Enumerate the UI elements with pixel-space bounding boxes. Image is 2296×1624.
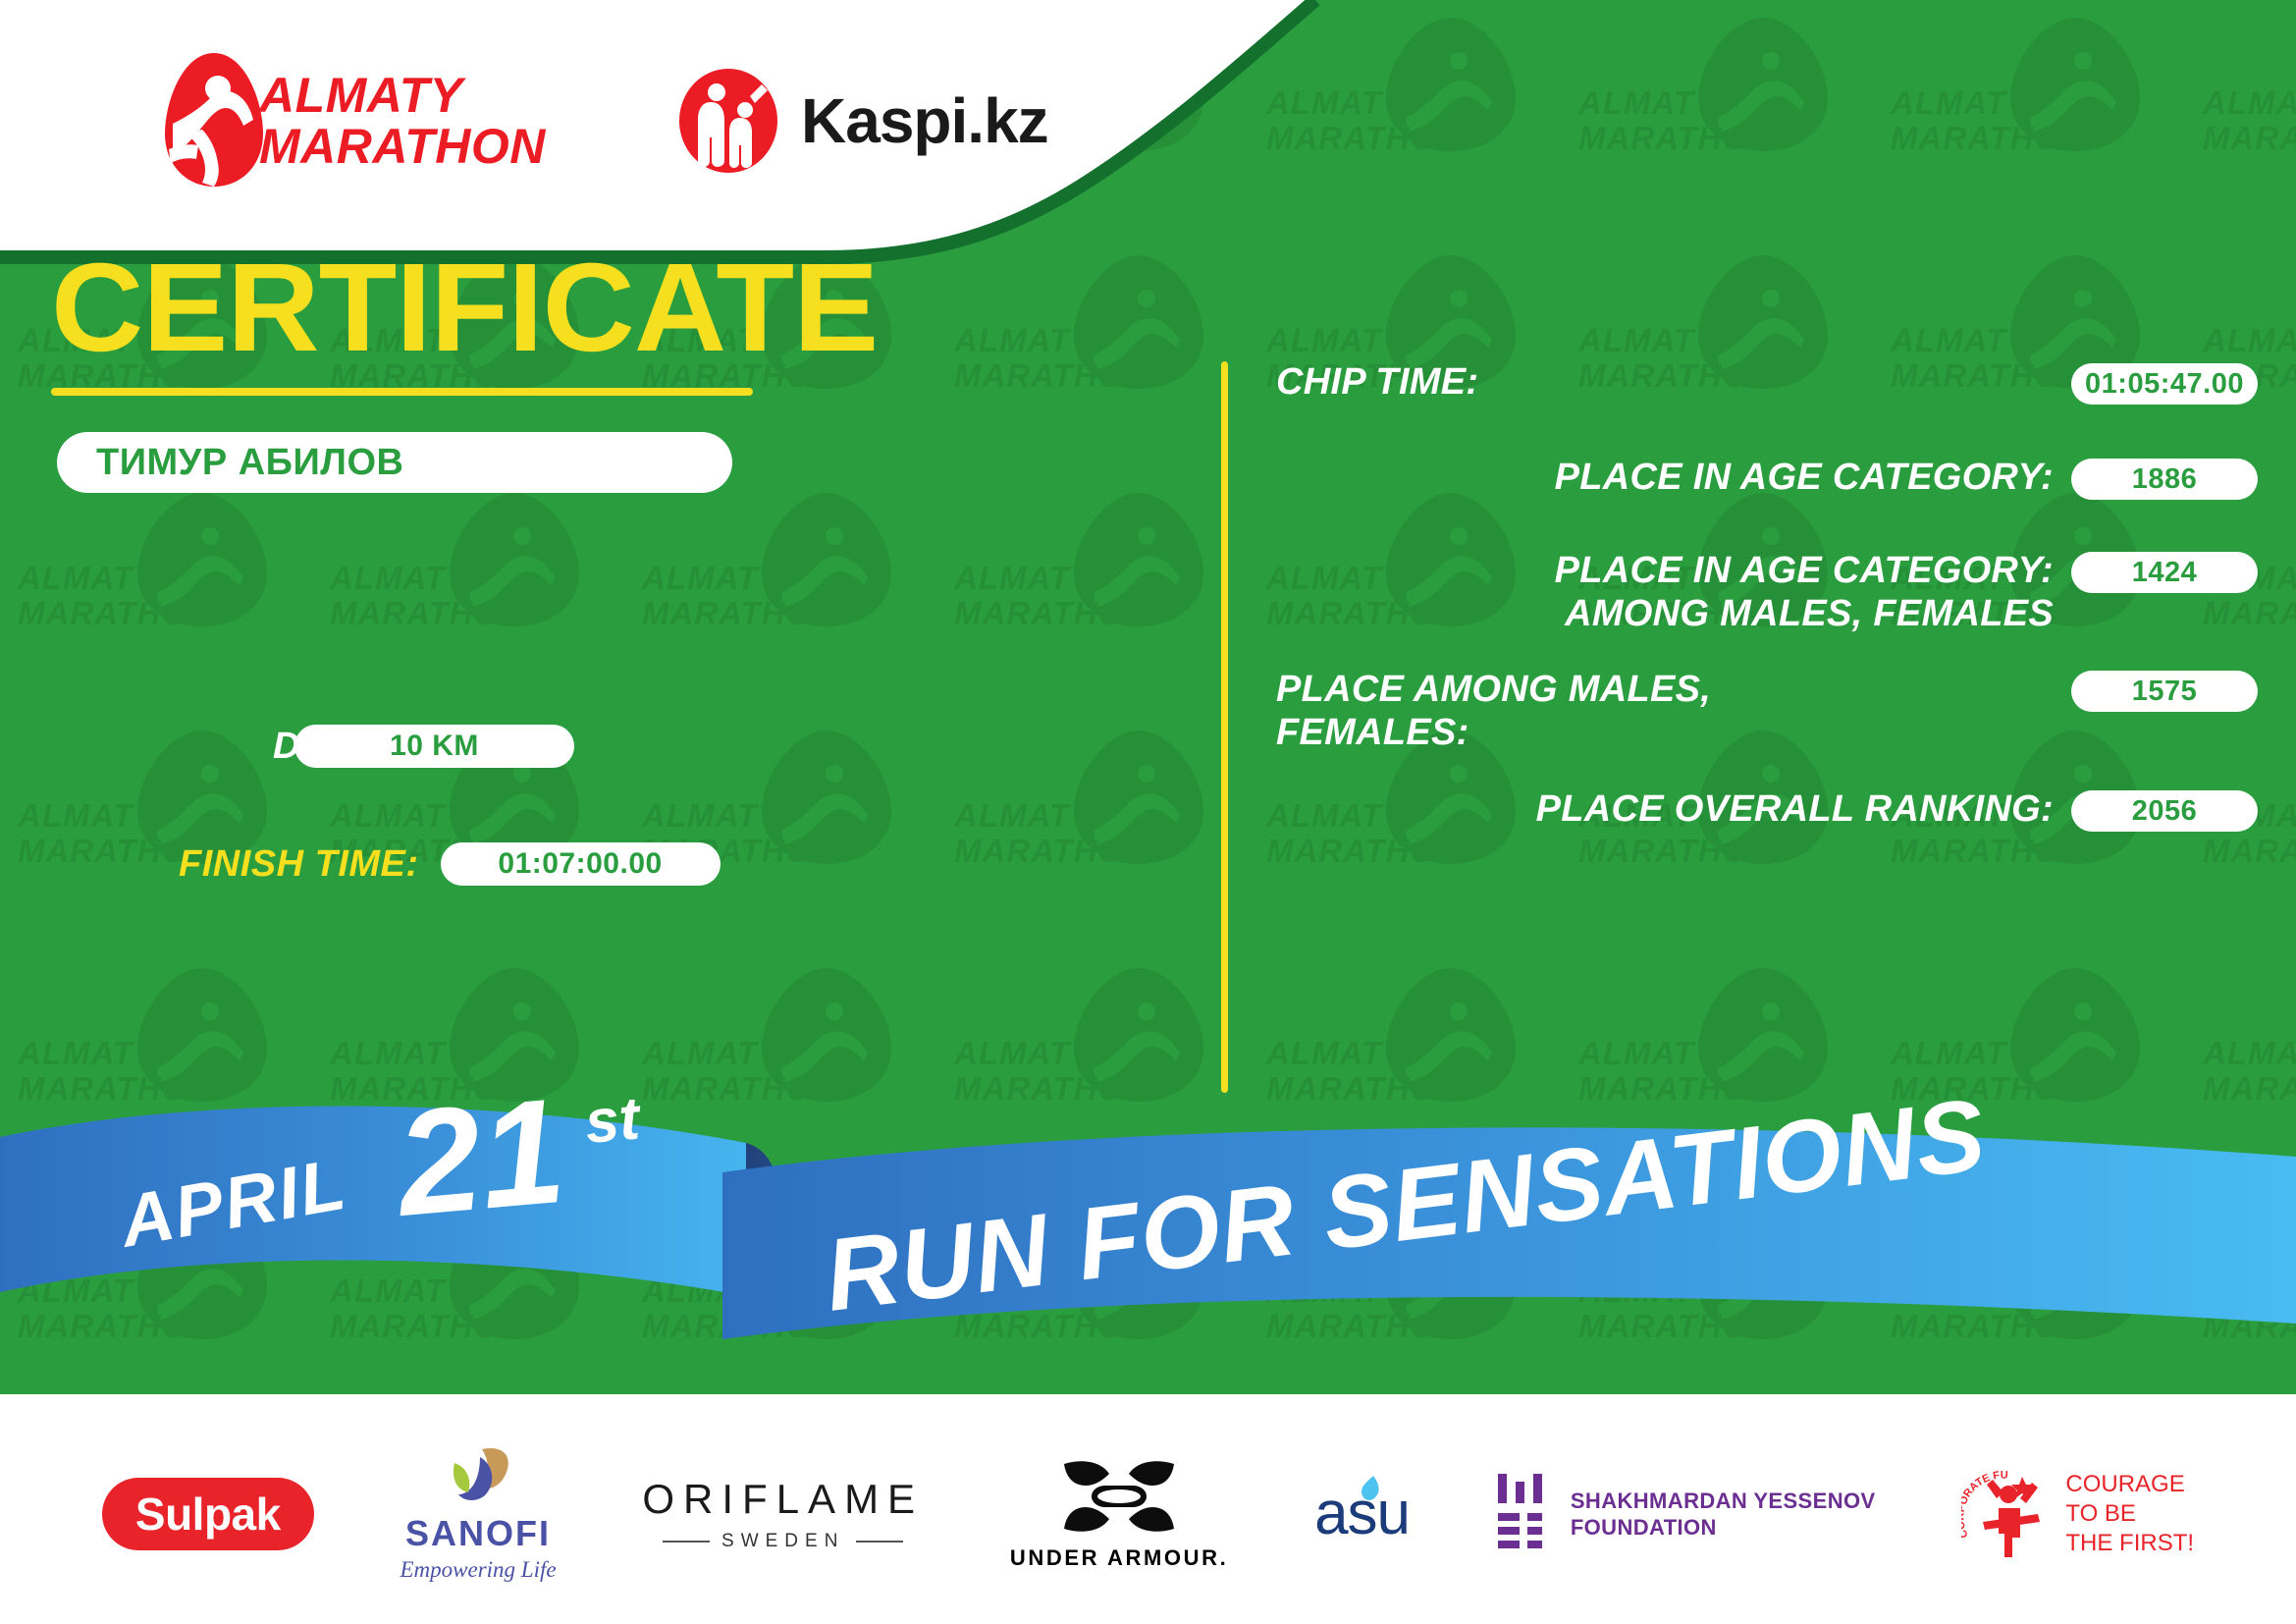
almaty-logo-line2: MARATHON xyxy=(259,121,546,173)
title-underline-rule xyxy=(51,388,753,396)
sponsor-bar: Sulpak SANOFI Empowering Life ORIFLAME S… xyxy=(0,1404,2296,1624)
distance-row: DISTANCE: 10 KM xyxy=(273,725,574,768)
certificate-page: ALMATY MARATHON ALMATY MARATHON xyxy=(0,0,2296,1624)
place-age-category-among-pill: 1424 xyxy=(2071,552,2258,593)
sponsor-oriflame: ORIFLAME SWEDEN xyxy=(642,1476,924,1552)
chip-time-value: 01:05:47.00 xyxy=(2085,368,2244,401)
page-title: CERTIFICATE xyxy=(51,245,878,371)
place-age-category-label: PLACE IN AGE CATEGORY: xyxy=(1276,457,2071,500)
sponsor-courage-fund: CORPORATE FUND COURAGE TO BE THE FIRST! xyxy=(1961,1465,2194,1563)
place-among-males-females-pill: 1575 xyxy=(2071,671,2258,712)
vertical-divider xyxy=(1221,361,1228,1093)
place-age-category-value: 1886 xyxy=(2132,463,2198,496)
stat-row: PLACE OVERALL RANKING: 2056 xyxy=(1276,788,2258,832)
participant-name-value: ТИМУР АБИЛОВ xyxy=(96,442,403,484)
place-overall-ranking-value: 2056 xyxy=(2132,795,2198,828)
under-armour-logo-text: UNDER ARMOUR. xyxy=(1010,1545,1228,1571)
stat-row: PLACE IN AGE CATEGORY: AMONG MALES, FEMA… xyxy=(1276,550,2258,635)
finish-time-label: FINISH TIME: xyxy=(179,843,419,886)
sponsor-yessenov-foundation: SHAKHMARDAN YESSENOV FOUNDATION xyxy=(1496,1472,1876,1556)
yessenov-mark-icon xyxy=(1496,1472,1553,1556)
ribbon-day: 21 xyxy=(388,1100,570,1248)
place-age-category-among-label: PLACE IN AGE CATEGORY: AMONG MALES, FEMA… xyxy=(1276,550,2071,635)
oriflame-logo-text: ORIFLAME xyxy=(642,1476,924,1523)
place-age-category-pill: 1886 xyxy=(2071,459,2258,500)
asu-droplet-icon xyxy=(1358,1474,1385,1503)
chip-time-pill: 01:05:47.00 xyxy=(2071,363,2258,405)
sulpak-logo-text: Sulpak xyxy=(102,1478,314,1550)
running-man-icon xyxy=(108,47,265,194)
oriflame-rule-left xyxy=(663,1541,710,1543)
distance-value: 10 KM xyxy=(390,730,479,763)
courage-runner-icon: CORPORATE FUND xyxy=(1961,1465,2056,1563)
stat-row: PLACE AMONG MALES, FEMALES: 1575 xyxy=(1276,669,2258,754)
participant-name-field: ТИМУР АБИЛОВ xyxy=(57,432,732,493)
sanofi-logo-text: SANOFI xyxy=(400,1513,557,1554)
kaspi-logo-text: Kaspi.kz xyxy=(801,84,1048,157)
kaspi-logo: Kaspi.kz xyxy=(677,67,1048,175)
oriflame-tagline: SWEDEN xyxy=(721,1531,844,1552)
kaspi-people-icon xyxy=(677,67,779,175)
sponsor-sulpak: Sulpak xyxy=(102,1478,314,1550)
place-among-males-females-label: PLACE AMONG MALES, FEMALES: xyxy=(1276,669,2071,754)
sponsor-under-armour: UNDER ARMOUR. xyxy=(1010,1458,1228,1571)
place-overall-ranking-label: PLACE OVERALL RANKING: xyxy=(1276,788,2071,832)
almaty-marathon-logo: ALMATY MARATHON xyxy=(108,47,546,194)
under-armour-icon xyxy=(1050,1458,1188,1535)
courage-logo-text: COURAGE TO BE THE FIRST! xyxy=(2065,1470,2194,1558)
stat-row: PLACE IN AGE CATEGORY: 1886 xyxy=(1276,457,2258,500)
certificate-left-column: CERTIFICATE ТИМУР АБИЛОВ DISTANCE: 10 KM… xyxy=(0,226,1207,1110)
ribbon-day-suffix: st xyxy=(582,1100,644,1157)
distance-pill: 10 KM xyxy=(294,725,574,768)
place-age-category-among-value: 1424 xyxy=(2132,557,2198,589)
finish-time-pill: 01:07:00.00 xyxy=(441,842,721,886)
oriflame-rule-right xyxy=(856,1541,903,1543)
sanofi-mark-icon xyxy=(437,1445,519,1506)
almaty-logo-line1: ALMATY xyxy=(259,70,546,122)
yessenov-logo-text: SHAKHMARDAN YESSENOV FOUNDATION xyxy=(1571,1488,1876,1542)
place-among-males-females-value: 1575 xyxy=(2132,676,2198,708)
finish-time-row: FINISH TIME: 01:07:00.00 xyxy=(179,842,721,886)
chip-time-label: CHIP TIME: xyxy=(1276,361,2071,405)
place-overall-ranking-pill: 2056 xyxy=(2071,790,2258,832)
finish-time-value: 01:07:00.00 xyxy=(498,847,662,881)
stat-row: CHIP TIME: 01:05:47.00 xyxy=(1276,361,2258,405)
sponsor-asu: asu xyxy=(1314,1484,1410,1544)
event-ribbon: APRIL 21 st RUN FOR SENSATIONS xyxy=(0,1100,2296,1453)
sponsor-sanofi: SANOFI Empowering Life xyxy=(400,1445,557,1583)
sanofi-tagline: Empowering Life xyxy=(400,1557,557,1583)
